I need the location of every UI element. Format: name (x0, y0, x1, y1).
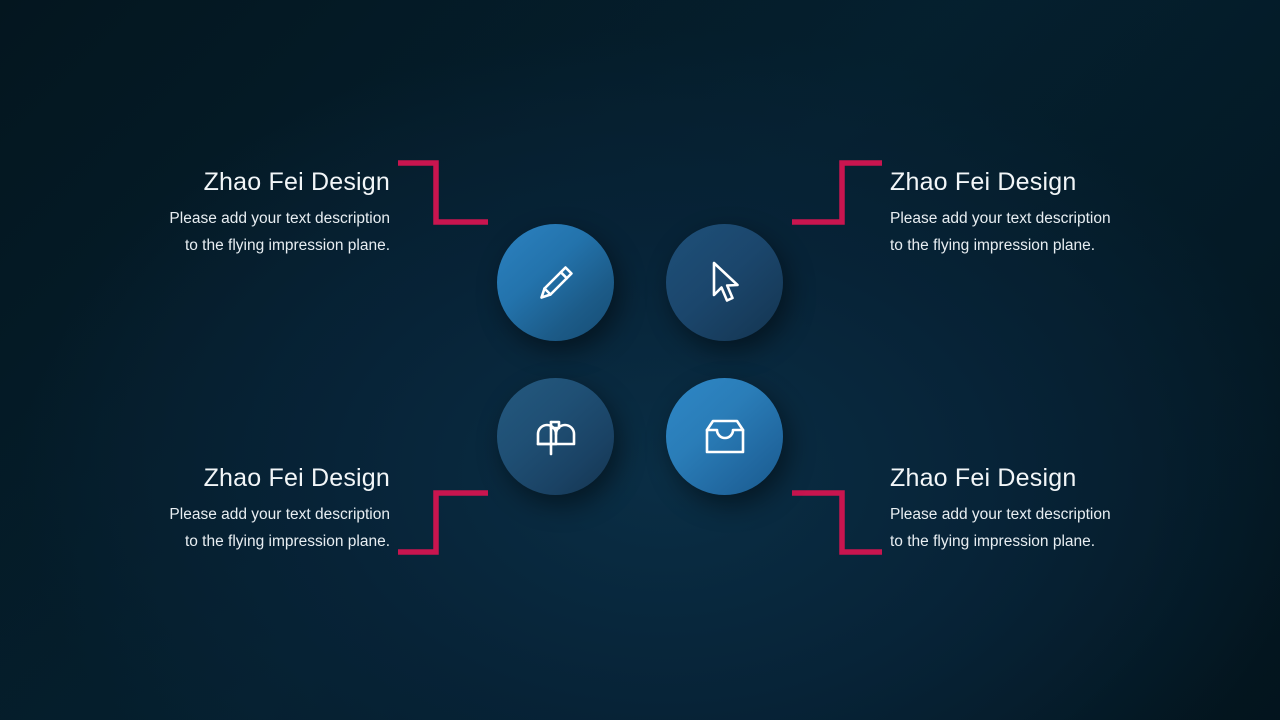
block-description: Please add your text description to the … (90, 501, 390, 556)
block-title: Zhao Fei Design (90, 464, 390, 493)
node-circle-pencil[interactable] (497, 224, 614, 341)
text-block-bottom-left: Zhao Fei Design Please add your text des… (90, 464, 390, 556)
block-title: Zhao Fei Design (890, 464, 1190, 493)
node-circle-cursor[interactable] (666, 224, 783, 341)
description-line-2: to the flying impression plane. (90, 528, 390, 556)
connector-top-right (792, 160, 884, 228)
text-block-bottom-right: Zhao Fei Design Please add your text des… (890, 464, 1190, 556)
block-title: Zhao Fei Design (90, 168, 390, 197)
connector-top-left (398, 160, 490, 228)
slide-canvas: Zhao Fei Design Please add your text des… (0, 0, 1280, 720)
description-line-2: to the flying impression plane. (890, 232, 1190, 260)
block-title: Zhao Fei Design (890, 168, 1190, 197)
mailbox-icon (531, 412, 581, 462)
description-line-1: Please add your text description (890, 205, 1190, 233)
description-line-1: Please add your text description (890, 501, 1190, 529)
description-line-2: to the flying impression plane. (890, 528, 1190, 556)
pencil-icon (533, 260, 579, 306)
block-description: Please add your text description to the … (890, 501, 1190, 556)
text-block-top-left: Zhao Fei Design Please add your text des… (90, 168, 390, 260)
description-line-2: to the flying impression plane. (90, 232, 390, 260)
node-circle-mailbox[interactable] (497, 378, 614, 495)
node-circle-inbox[interactable] (666, 378, 783, 495)
description-line-1: Please add your text description (90, 501, 390, 529)
block-description: Please add your text description to the … (890, 205, 1190, 260)
block-description: Please add your text description to the … (90, 205, 390, 260)
connector-bottom-right (792, 490, 884, 558)
connector-bottom-left (398, 490, 490, 558)
description-line-1: Please add your text description (90, 205, 390, 233)
text-block-top-right: Zhao Fei Design Please add your text des… (890, 168, 1190, 260)
inbox-tray-icon (700, 414, 750, 460)
cursor-arrow-icon (702, 258, 748, 308)
